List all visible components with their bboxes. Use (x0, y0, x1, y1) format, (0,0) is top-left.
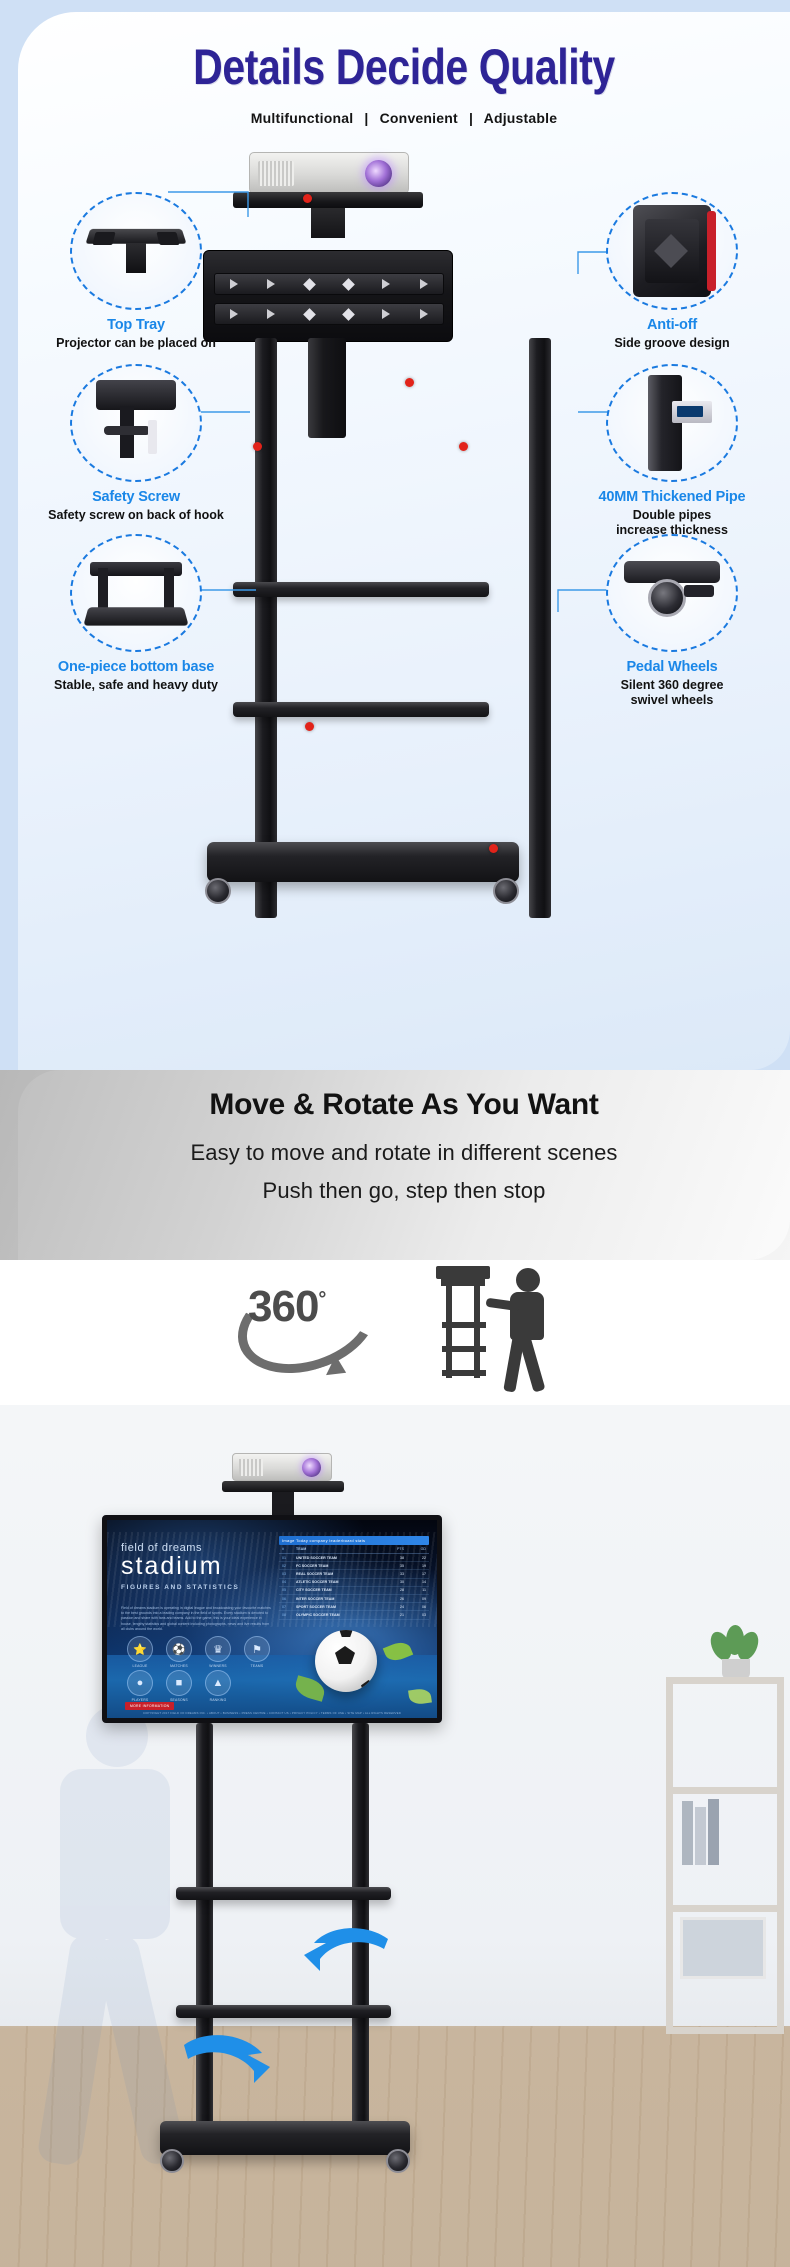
callout-top-tray-title: Top Tray (20, 317, 252, 333)
scene-bottom-base-part (160, 2121, 410, 2155)
subtitle-item-1: Multifunctional (251, 110, 354, 126)
bracket-arrow-icon (382, 309, 390, 319)
tv-cell-team: CITY SOCCER TEAM (296, 1588, 382, 1592)
tv-cell-rank: 02 (282, 1564, 296, 1568)
tv-table-row: 08OLYMPIC SOCCER TEAM2103 (279, 1611, 429, 1619)
move-rotate-line-2: Push then go, step then stop (18, 1178, 790, 1204)
tv-cell-pts: 28 (382, 1588, 404, 1592)
framed-picture (680, 1917, 766, 1979)
tv-table-row: 01UNITED SOCCER TEAM3822 (279, 1554, 429, 1562)
person-pushing-icon (500, 1268, 556, 1392)
tv-cell-team: INTER SOCCER TEAM (296, 1597, 382, 1601)
scene-caster-left (160, 2149, 186, 2175)
tv-display: field of dreams stadium FIGURES AND STAT… (102, 1515, 442, 1723)
callout-safety-screw[interactable]: Safety Screw Safety screw on back of hoo… (20, 364, 252, 523)
move-rotate-line-1: Easy to move and rotate in different sce… (18, 1140, 790, 1166)
scene-top-tray-part (222, 1481, 344, 1492)
trophy-icon: ⭐ (127, 1636, 153, 1662)
tv-col-team: TEAM (296, 1547, 382, 1551)
tv-cell-rank: 07 (282, 1605, 296, 1609)
tv-cell-gd: 06 (404, 1605, 426, 1609)
tv-cell-gd: 11 (404, 1588, 426, 1592)
tv-cell-gd: 22 (404, 1556, 426, 1560)
callout-safety-screw-image (70, 364, 202, 482)
tv-cell-team: UNITED SOCCER TEAM (296, 1556, 382, 1560)
tv-cell-team: OLYMPIC SOCCER TEAM (296, 1613, 382, 1617)
scene-lower-shelf-part (176, 2005, 391, 2018)
tv-cell-pts: 33 (382, 1572, 404, 1576)
soccer-ball-graphic (315, 1630, 377, 1692)
tv-table-row: 02FC SOCCER TEAM3519 (279, 1562, 429, 1570)
bracket-arrow-icon (420, 309, 428, 319)
top-tray-graphic-icon (88, 228, 184, 274)
base-assembly-part (207, 842, 519, 902)
tv-cell-rank: 08 (282, 1613, 296, 1617)
tv-stat-caption: TEAMS (242, 1664, 272, 1668)
crown-icon: ♛ (205, 1636, 231, 1662)
tv-col-gd: GD (404, 1547, 426, 1551)
players-icon: ● (127, 1670, 153, 1696)
background-bookshelf (666, 1677, 784, 2037)
tv-stat-icon-item: ■ SEASONS (164, 1670, 194, 1702)
tv-title: stadium (121, 1552, 240, 1581)
tv-cell-rank: 01 (282, 1556, 296, 1560)
tv-stat-caption: RANKING (203, 1698, 233, 1702)
scene-section: 360° (0, 1260, 790, 2267)
callout-pedal-wheels-image (606, 534, 738, 652)
bracket-diamond-icon (342, 308, 355, 321)
bracket-arrow-icon (382, 279, 390, 289)
rotate-arrow-upper (300, 1925, 392, 1979)
rotation-badge: 360° (248, 1282, 325, 1332)
lower-shelf-part (233, 702, 489, 717)
tv-cell-rank: 04 (282, 1580, 296, 1584)
cart-silhouette-icon (432, 1266, 494, 1390)
hotspot-dot-wheels (489, 844, 498, 853)
upper-shelf-part (233, 582, 489, 597)
subtitle-separator-2: | (469, 110, 473, 126)
tv-cell-pts: 35 (382, 1564, 404, 1568)
tv-screen-content: field of dreams stadium FIGURES AND STAT… (107, 1520, 437, 1718)
tv-header: field of dreams stadium FIGURES AND STAT… (121, 1542, 240, 1591)
subtitle-separator-1: | (364, 110, 368, 126)
rotation-graphic: 360° (0, 1260, 790, 1405)
callout-anti-off-image (606, 192, 738, 310)
projector-vents-icon (258, 161, 294, 186)
room-scene: field of dreams stadium FIGURES AND STAT… (0, 1405, 790, 2267)
top-tray-part (233, 192, 423, 208)
tv-cell-rank: 03 (282, 1572, 296, 1576)
anti-off-graphic-icon (633, 205, 711, 297)
right-pipe-part (529, 338, 551, 918)
tv-stat-icon-item: ⭐ LEAGUE (125, 1636, 155, 1668)
caliper-pipe-graphic-icon (642, 375, 702, 471)
callout-bottom-base-title: One-piece bottom base (20, 659, 252, 675)
tv-table-row: 07SPORT SOCCER TEAM2406 (279, 1603, 429, 1611)
rotation-badge-value: 360 (248, 1282, 318, 1331)
tv-cell-team: FC SOCCER TEAM (296, 1564, 382, 1568)
projector-lens-icon (365, 160, 392, 187)
callout-bottom-base-desc: Stable, safe and heavy duty (20, 678, 252, 693)
product-illustration (193, 142, 613, 972)
tv-col-pts: PTS (382, 1547, 404, 1551)
tv-cell-gd: 09 (404, 1597, 426, 1601)
scene-projector-icon (232, 1453, 332, 1481)
tv-stat-caption: LEAGUE (125, 1664, 155, 1668)
features-section: Details Decide Quality Multifunctional |… (0, 0, 790, 1070)
tv-cell-pts: 26 (382, 1597, 404, 1601)
callout-top-tray-desc: Projector can be placed on (20, 336, 252, 351)
rotate-arrow-lower (178, 2033, 274, 2089)
tv-col-rank: # (282, 1547, 296, 1551)
bracket-diamond-icon (303, 278, 316, 291)
tv-stat-icons: ⭐ LEAGUE ⚽ MATCHES ♛ WINNERS ⚑ (125, 1636, 272, 1668)
potted-plant-icon (708, 1629, 762, 1679)
page-title: Details Decide Quality (87, 38, 720, 96)
callout-safety-screw-desc: Safety screw on back of hook (20, 508, 252, 523)
tv-cell-gd: 17 (404, 1572, 426, 1576)
flag-icon: ⚑ (244, 1636, 270, 1662)
hotspot-dot-anti-off (405, 378, 414, 387)
bracket-arrow-icon (267, 309, 275, 319)
soccer-ball-icon: ⚽ (166, 1636, 192, 1662)
bracket-arrow-icon (420, 279, 428, 289)
subtitle-item-3: Adjustable (484, 110, 558, 126)
callout-thick-pipe[interactable]: 40MM Thickened Pipe Double pipes increas… (556, 364, 788, 538)
tv-cell-rank: 06 (282, 1597, 296, 1601)
tv-footer: COPYRIGHT 2017 FIELD OF DREAMS INC. • AB… (117, 1711, 427, 1715)
callout-thick-pipe-title: 40MM Thickened Pipe (556, 489, 788, 505)
tv-cell-pts: 21 (382, 1613, 404, 1617)
callout-anti-off[interactable]: Anti-off Side groove design (556, 192, 788, 351)
tv-cell-pts: 30 (382, 1580, 404, 1584)
tv-table-row: 06INTER SOCCER TEAM2609 (279, 1595, 429, 1603)
bracket-diamond-icon (303, 308, 316, 321)
tv-subtitle: FIGURES AND STATISTICS (121, 1584, 240, 1591)
tv-stat-icon-item: ▲ RANKING (203, 1670, 233, 1702)
tv-cell-pts: 24 (382, 1605, 404, 1609)
callout-thick-pipe-desc-1: Double pipes (556, 508, 788, 523)
callout-safety-screw-title: Safety Screw (20, 489, 252, 505)
hotspot-dot-pipe (459, 442, 468, 451)
caster-wheel-left (205, 878, 233, 906)
tv-table-row: 05CITY SOCCER TEAM2811 (279, 1587, 429, 1595)
safety-screw-graphic-icon (90, 380, 182, 466)
tv-table-body: 01UNITED SOCCER TEAM382202FC SOCCER TEAM… (279, 1554, 429, 1620)
move-rotate-card: Move & Rotate As You Want Easy to move a… (18, 1070, 790, 1260)
scene-upper-shelf-part (176, 1887, 391, 1900)
features-card: Details Decide Quality Multifunctional |… (18, 12, 790, 1070)
tv-cell-pts: 38 (382, 1556, 404, 1560)
callout-bottom-base[interactable]: One-piece bottom base Stable, safe and h… (20, 534, 252, 693)
tv-cell-gd: 14 (404, 1580, 426, 1584)
subtitle-item-2: Convenient (380, 110, 458, 126)
tv-stat-icon-item: ♛ WINNERS (203, 1636, 233, 1668)
callout-pedal-wheels-desc-2: swivel wheels (556, 693, 788, 708)
callout-top-tray-image (70, 192, 202, 310)
projector-icon (249, 152, 409, 194)
callout-thick-pipe-image (606, 364, 738, 482)
tv-stat-caption: MATCHES (164, 1664, 194, 1668)
bracket-arrow-icon (267, 279, 275, 289)
hotspot-dot-safety-screw (253, 442, 262, 451)
tv-stat-icon-item: ● PLAYERS (125, 1670, 155, 1702)
bracket-diamond-icon (342, 278, 355, 291)
page-subtitle: Multifunctional | Convenient | Adjustabl… (18, 110, 790, 126)
tv-stat-icon-item: ⚽ MATCHES (164, 1636, 194, 1668)
callout-bottom-base-image (70, 534, 202, 652)
tv-table-row: 04ATLETIC SOCCER TEAM3014 (279, 1579, 429, 1587)
tv-more-information-button[interactable]: MORE INFORMATION (125, 1702, 174, 1710)
tv-stat-icon-item: ⚑ TEAMS (242, 1636, 272, 1668)
tv-cell-gd: 03 (404, 1613, 426, 1617)
seasons-icon: ■ (166, 1670, 192, 1696)
left-pipe-part (255, 338, 277, 918)
tv-stat-icons-row2: ● PLAYERS ■ SEASONS ▲ RANKING (125, 1670, 233, 1702)
scene-caster-right (386, 2149, 412, 2175)
hotspot-dot-top-tray (303, 194, 312, 203)
hotspot-dot-base (305, 722, 314, 731)
bracket-center-post-part (308, 338, 346, 438)
callout-pedal-wheels-desc-1: Silent 360 degree (556, 678, 788, 693)
callout-anti-off-desc: Side groove design (556, 336, 788, 351)
bottom-base-graphic-icon (86, 560, 186, 626)
ranking-icon: ▲ (205, 1670, 231, 1696)
tv-cell-team: ATLETIC SOCCER TEAM (296, 1580, 382, 1584)
callout-top-tray[interactable]: Top Tray Projector can be placed on (20, 192, 252, 351)
callout-pedal-wheels[interactable]: Pedal Wheels Silent 360 degree swivel wh… (556, 534, 788, 708)
tv-cell-rank: 05 (282, 1588, 296, 1592)
tv-table-header-row: # TEAM PTS GD (279, 1545, 429, 1554)
tv-stats-table: Image Today company leaderboard stats # … (279, 1536, 429, 1620)
tv-cell-gd: 19 (404, 1564, 426, 1568)
pedal-wheel-graphic-icon (624, 561, 720, 625)
tv-paragraph: Field of dreams stadium is operating in … (121, 1606, 271, 1632)
bottom-base-part (207, 842, 519, 882)
move-rotate-section: Move & Rotate As You Want Easy to move a… (0, 1070, 790, 1260)
tv-stat-caption: WINNERS (203, 1664, 233, 1668)
move-rotate-heading: Move & Rotate As You Want (18, 1088, 790, 1122)
callout-anti-off-title: Anti-off (556, 317, 788, 333)
tv-table-row: 03REAL SOCCER TEAM3317 (279, 1570, 429, 1578)
tv-table-title: Image Today company leaderboard stats (279, 1536, 429, 1545)
rotation-badge-degree: ° (318, 1288, 325, 1310)
tv-cell-team: SPORT SOCCER TEAM (296, 1605, 382, 1609)
caster-wheel-right (493, 878, 521, 906)
tv-cell-team: REAL SOCCER TEAM (296, 1572, 382, 1576)
callout-pedal-wheels-title: Pedal Wheels (556, 659, 788, 675)
product-detail-page: Details Decide Quality Multifunctional |… (0, 0, 790, 2267)
